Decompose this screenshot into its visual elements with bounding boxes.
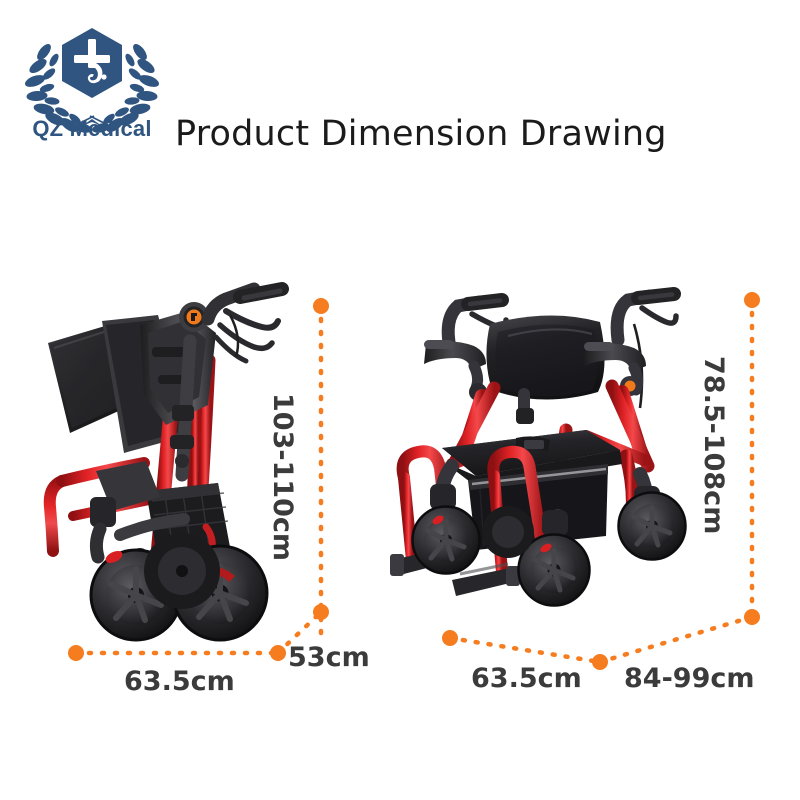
wheel-mid-hidden [482, 506, 534, 558]
left-width-label: 63.5cm [124, 668, 235, 695]
right-height-label: 78.5-108cm [700, 356, 727, 534]
product-dimension-drawing-page: QZ Medical Product Dimension Drawing [0, 0, 800, 800]
unfolded-rollator-figure [390, 288, 730, 648]
wheel-mid-left [144, 533, 220, 609]
wheel-rear-left [412, 506, 480, 574]
right-width-label: 63.5cm [471, 665, 582, 692]
right-depth-label: 84-99cm [624, 665, 755, 692]
wheel-rear-right [618, 492, 686, 560]
left-height-label: 103-110cm [269, 393, 296, 561]
push-handle [208, 289, 282, 361]
page-title: Product Dimension Drawing [175, 114, 667, 154]
left-depth-label: 53cm [288, 644, 370, 671]
brand-name: QZ Medical [14, 116, 170, 142]
